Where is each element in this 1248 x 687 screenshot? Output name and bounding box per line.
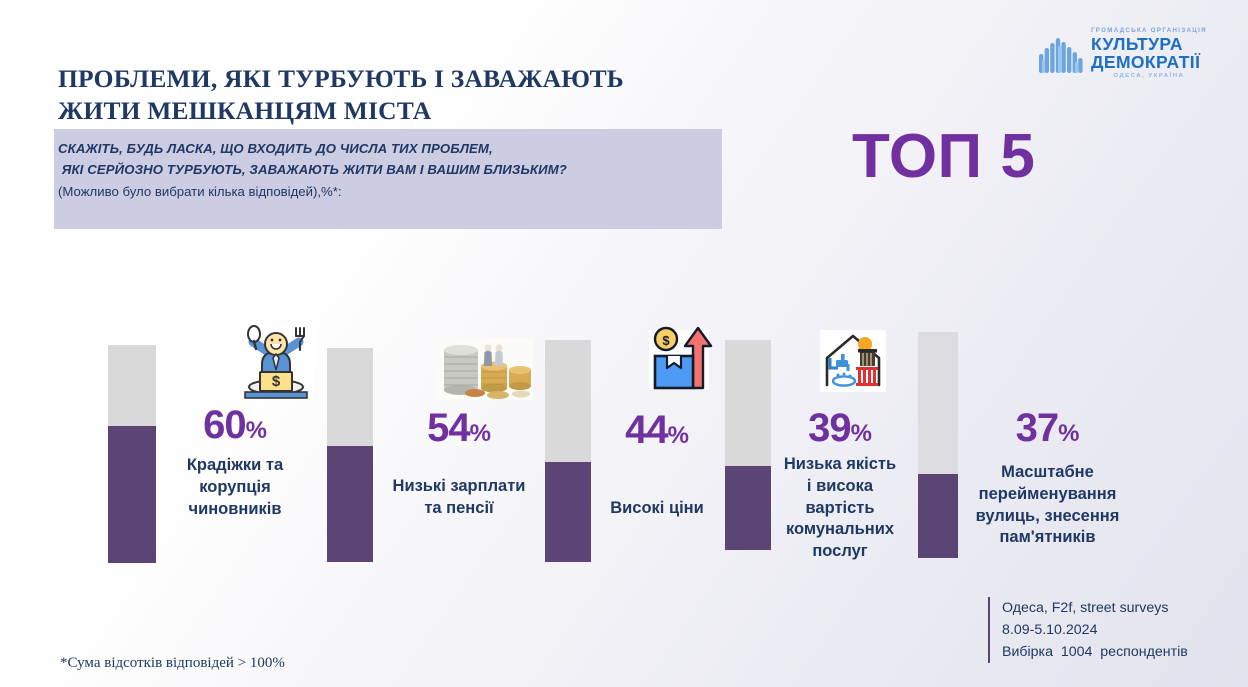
stat-number-3: 44 bbox=[625, 408, 668, 452]
stat-value-4: 39% bbox=[770, 408, 910, 448]
stat-value-2: 54% bbox=[378, 408, 540, 448]
stat-label-2: Низькі зарплати та пенсії bbox=[378, 476, 540, 520]
stat-number-2: 54 bbox=[427, 406, 470, 450]
utilities-house-icon bbox=[820, 330, 886, 392]
stat-group-3: 44% Високі ціни bbox=[592, 410, 722, 520]
corrupt-official-eating-money-icon: $ bbox=[235, 322, 317, 400]
slide: ГРОМАДСЬКА ОРГАНІЗАЦІЯ КУЛЬТУРА ДЕМОКРАТ… bbox=[0, 0, 1248, 687]
stat-percent-sign-3: % bbox=[668, 422, 689, 449]
source-line-2: 8.09-5.10.2024 bbox=[1002, 619, 1188, 641]
stat-group-5: 37% Масштабне перейменування вулиць, зне… bbox=[960, 408, 1135, 549]
bar-fill-3 bbox=[545, 462, 591, 562]
stat-percent-sign-4: % bbox=[851, 420, 872, 447]
stat-value-1: 60% bbox=[160, 405, 310, 445]
bar-fill-2 bbox=[327, 446, 373, 562]
bar-fill-4 bbox=[725, 466, 771, 550]
coin-stacks-pensioners-icon bbox=[435, 338, 533, 400]
stat-label-3: Високі ціни bbox=[592, 498, 722, 520]
source-line-3: Вибірка 1004 респондентів bbox=[1002, 641, 1188, 663]
stat-label-1: Крадіжки та корупція чиновників bbox=[160, 455, 310, 520]
stat-percent-sign-1: % bbox=[246, 417, 267, 444]
bar-track-2 bbox=[327, 348, 373, 562]
stat-group-1: 60% Крадіжки та корупція чиновників bbox=[160, 405, 310, 520]
stat-value-5: 37% bbox=[960, 408, 1135, 448]
stat-label-5: Масштабне перейменування вулиць, знесенн… bbox=[960, 462, 1135, 549]
bar-track-4 bbox=[725, 340, 771, 550]
svg-text:$: $ bbox=[272, 373, 281, 390]
stat-group-2: 54% Низькі зарплати та пенсії bbox=[378, 408, 540, 520]
bar-track-5 bbox=[918, 332, 958, 558]
stat-percent-sign-2: % bbox=[470, 420, 491, 447]
stat-number-5: 37 bbox=[1016, 406, 1059, 450]
stat-percent-sign-5: % bbox=[1058, 420, 1079, 447]
stat-number-4: 39 bbox=[808, 406, 851, 450]
bar-chart: $ bbox=[0, 0, 1248, 687]
source-note: Одеса, F2f, street surveys 8.09-5.10.202… bbox=[988, 597, 1188, 663]
bar-track-1 bbox=[108, 345, 156, 563]
footnote: *Сума відсотків відповідей > 100% bbox=[60, 655, 285, 672]
stat-group-4: 39% Низька якість і висока вартість кому… bbox=[770, 408, 910, 563]
price-increase-box-arrow-icon: $ bbox=[645, 322, 713, 394]
bar-fill-1 bbox=[108, 426, 156, 563]
stat-number-1: 60 bbox=[203, 403, 246, 447]
source-line-1: Одеса, F2f, street surveys bbox=[1002, 597, 1188, 619]
bar-fill-5 bbox=[918, 474, 958, 558]
stat-value-3: 44% bbox=[592, 410, 722, 450]
stat-label-4: Низька якість і висока вартість комуналь… bbox=[770, 454, 910, 563]
svg-text:$: $ bbox=[662, 333, 670, 348]
bar-track-3 bbox=[545, 340, 591, 562]
